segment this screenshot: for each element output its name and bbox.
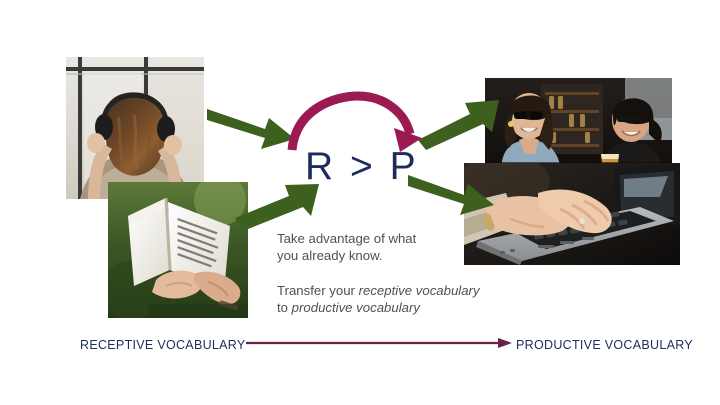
arrow-listening-to-center-icon xyxy=(205,103,297,155)
body-line-1: Take advantage of what xyxy=(277,231,416,246)
emphasis-receptive-vocabulary: receptive vocabulary xyxy=(359,283,480,298)
body-line-3-prefix: Transfer your xyxy=(277,283,359,298)
body-paragraph-1: Take advantage of what you already know. xyxy=(277,230,522,264)
headline-r-greater-than-p: R > P xyxy=(305,145,425,189)
slide-canvas: R > P Take advantage of what you already… xyxy=(0,0,720,405)
photo-person-listening-headphones xyxy=(66,57,204,199)
body-copy: Take advantage of what you already know.… xyxy=(277,230,522,316)
emphasis-productive-vocabulary: productive vocabulary xyxy=(292,300,420,315)
photo-women-talking xyxy=(485,78,672,172)
axis-label-productive-vocabulary: PRODUCTIVE VOCABULARY xyxy=(516,338,693,352)
axis-label-receptive-vocabulary: RECEPTIVE VOCABULARY xyxy=(80,338,246,352)
photo-person-reading-book xyxy=(108,182,248,318)
body-paragraph-2: Transfer your receptive vocabulary to pr… xyxy=(277,282,522,316)
body-line-2: you already know. xyxy=(277,248,383,263)
axis-arrow-icon xyxy=(246,336,512,350)
arc-receptive-to-productive-icon xyxy=(288,94,422,152)
arrow-center-to-speaking-icon xyxy=(416,96,502,152)
body-line-4-middle: to xyxy=(277,300,292,315)
